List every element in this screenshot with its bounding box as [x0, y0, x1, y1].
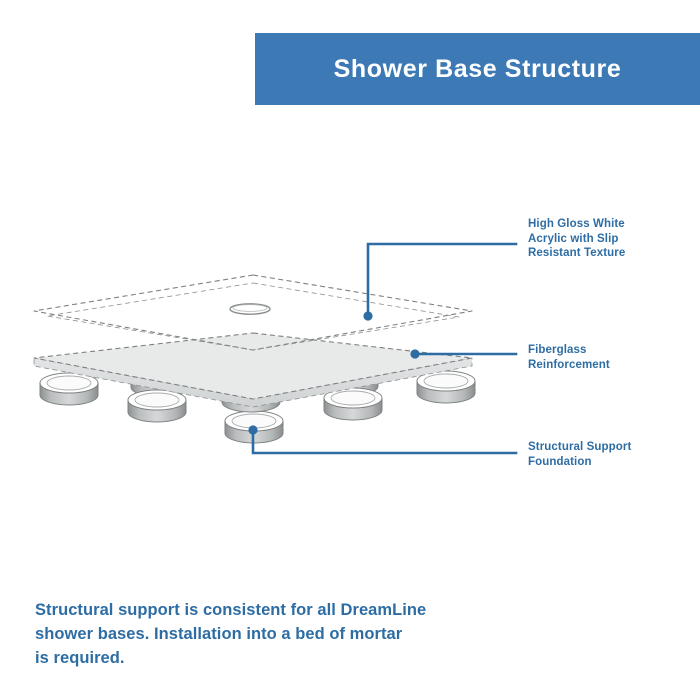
- callout-label-foundation: Structural Support Foundation: [528, 440, 631, 469]
- shower-base-structure-diagram-page: Shower Base Structure: [0, 0, 700, 700]
- support-ring: [324, 388, 382, 420]
- support-foundation-layer: [40, 364, 475, 443]
- leader-dot: [363, 311, 372, 320]
- page-title: Shower Base Structure: [334, 55, 622, 84]
- support-ring: [225, 411, 283, 443]
- header-banner: Shower Base Structure: [255, 33, 700, 105]
- footer-caption: Structural support is consistent for all…: [35, 598, 505, 670]
- acrylic-top-layer: [34, 275, 472, 350]
- leader-dot: [248, 425, 257, 434]
- fiberglass-slab-layer: [34, 333, 472, 407]
- support-ring: [128, 390, 186, 422]
- drain-icon: [230, 304, 270, 314]
- acrylic-inner-outline: [47, 283, 459, 350]
- leader-line-foundation: [248, 425, 516, 453]
- support-ring: [222, 380, 280, 412]
- support-ring: [131, 365, 189, 397]
- acrylic-outline: [34, 275, 472, 350]
- leader-line-fiberglass: [410, 349, 516, 358]
- callout-leader-lines: [248, 244, 516, 453]
- support-ring: [320, 364, 378, 396]
- callout-label-acrylic: High Gloss White Acrylic with Slip Resis…: [528, 217, 625, 261]
- leader-dot: [410, 349, 419, 358]
- callout-label-fiberglass: Fiberglass Reinforcement: [528, 343, 610, 372]
- slab-top-face: [34, 333, 472, 399]
- slab-edge: [34, 358, 472, 407]
- leader-line-acrylic: [363, 244, 516, 321]
- support-ring: [40, 373, 98, 405]
- support-ring: [417, 371, 475, 403]
